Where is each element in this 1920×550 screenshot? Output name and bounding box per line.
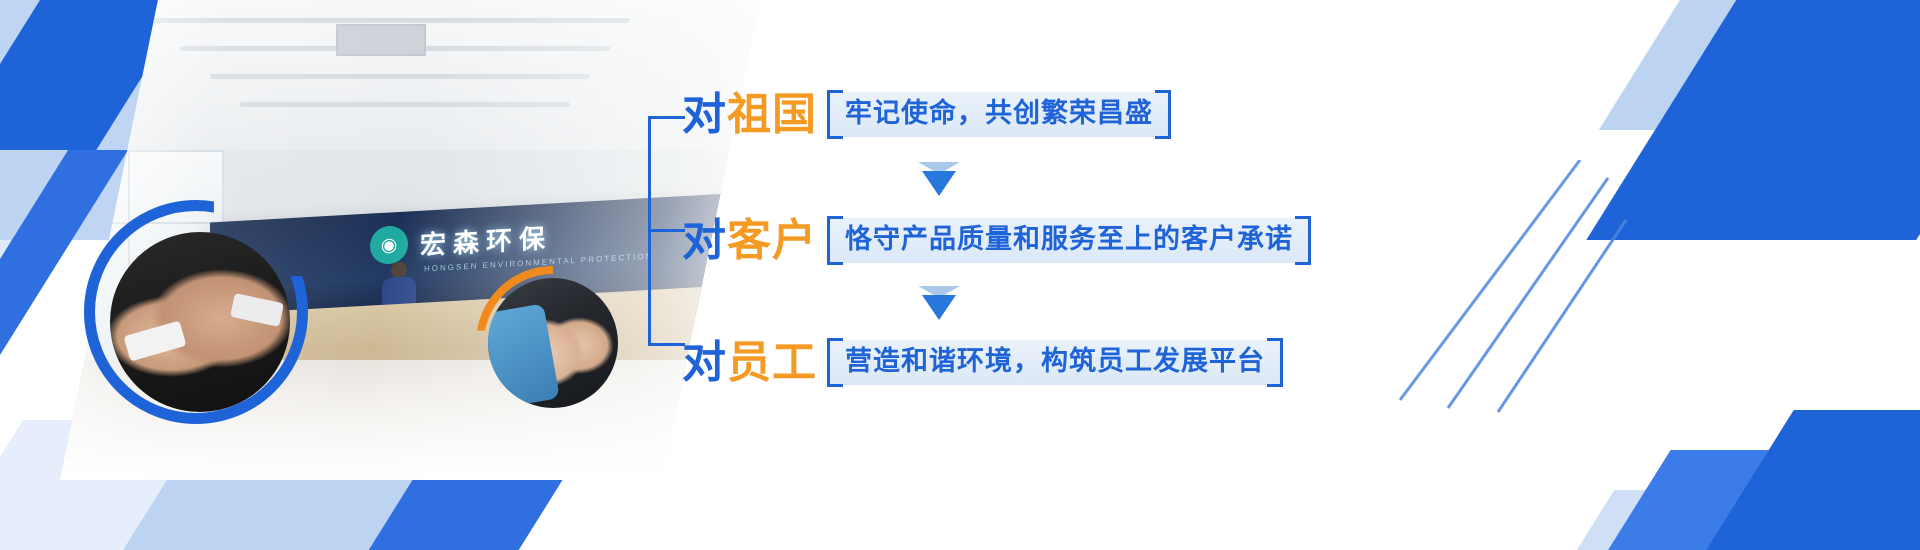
value-row-country: 对祖国 牢记使命，共创繁荣昌盛: [682, 92, 1169, 137]
bracket-tick-2: [651, 229, 685, 232]
values-list: 对祖国 牢记使命，共创繁荣昌盛 对客户: [648, 74, 1368, 394]
company-values-banner: ◉ 宏森环保 HONGSEN ENVIRONMENTAL PROTECTION: [0, 0, 1920, 550]
value-lead-country: 对祖国: [682, 93, 817, 137]
value-tag-text: 营造和谐环境，构筑员工发展平台: [845, 346, 1265, 377]
value-tag-text: 恪守产品质量和服务至上的客户承诺: [845, 224, 1293, 255]
bracket-connector: [648, 116, 682, 346]
value-lead-subject: 客户: [727, 215, 817, 266]
value-lead-subject: 祖国: [727, 89, 817, 140]
edge-mark: [827, 350, 830, 375]
edge-mark: [827, 102, 830, 127]
value-lead-prefix: 对: [682, 215, 727, 266]
chevron-down-icon: [918, 286, 960, 320]
value-lead-prefix: 对: [682, 337, 727, 388]
value-tag-country: 牢记使命，共创繁荣昌盛: [829, 92, 1169, 137]
edge-mark: [1280, 350, 1283, 375]
deco-shape-top-right-blue: [1586, 0, 1920, 240]
deco-shape-bottom-right-blue: [1606, 410, 1920, 550]
value-lead-prefix: 对: [682, 89, 727, 140]
arrow-bottom-layer: [922, 295, 956, 320]
deco-diagonal-lines: [1330, 160, 1630, 420]
arrow-bottom-layer: [922, 171, 956, 196]
value-row-employee: 对员工 营造和谐环境，构筑员工发展平台: [682, 340, 1281, 385]
bracket-tick-3: [651, 343, 685, 346]
edge-mark: [1308, 228, 1311, 253]
value-tag-employee: 营造和谐环境，构筑员工发展平台: [829, 340, 1281, 385]
deco-shape-top-right-lightblue: [1599, 0, 1881, 130]
edge-mark: [827, 228, 830, 253]
value-lead-employee: 对员工: [682, 341, 817, 385]
chevron-down-icon: [918, 162, 960, 196]
edge-mark: [1168, 102, 1171, 127]
bracket-tick-1: [651, 116, 685, 119]
deco-shape-bottom-right-pale: [1446, 490, 1705, 550]
value-row-customer: 对客户 恪守产品质量和服务至上的客户承诺: [682, 218, 1309, 263]
value-tag-customer: 恪守产品质量和服务至上的客户承诺: [829, 218, 1309, 263]
deco-shape-bottom-right-midblue: [1489, 450, 1820, 550]
value-lead-subject: 员工: [727, 337, 817, 388]
value-tag-text: 牢记使命，共创繁荣昌盛: [845, 98, 1153, 129]
value-lead-customer: 对客户: [682, 219, 817, 263]
